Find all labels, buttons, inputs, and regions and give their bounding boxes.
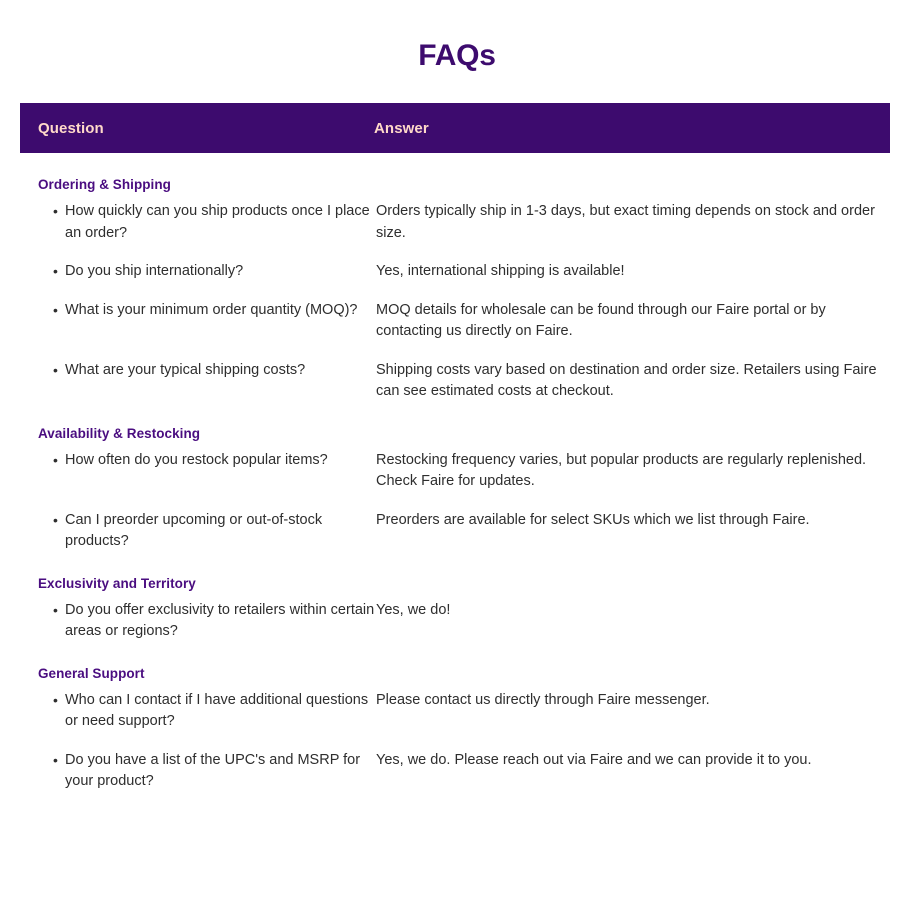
faq-row: Do you have a list of the UPC's and MSRP… (20, 750, 890, 793)
faq-question-text: Who can I contact if I have additional q… (53, 690, 375, 733)
faq-question-cell: Do you offer exclusivity to retailers wi… (20, 600, 375, 643)
page-title: FAQs (0, 0, 914, 74)
faq-question-text: Can I preorder upcoming or out-of-stock … (53, 510, 375, 553)
faq-answer-text: Shipping costs vary based on destination… (375, 360, 890, 403)
column-header-answer: Answer (374, 120, 429, 137)
faq-question-cell: What are your typical shipping costs? (20, 360, 375, 382)
faq-row: Do you ship internationally?Yes, interna… (20, 261, 890, 283)
faq-row: How quickly can you ship products once I… (20, 201, 890, 244)
faq-question-cell: Can I preorder upcoming or out-of-stock … (20, 510, 375, 553)
faq-question-text: Do you have a list of the UPC's and MSRP… (53, 750, 375, 793)
faq-row: How often do you restock popular items?R… (20, 450, 890, 493)
faq-section: Availability & RestockingHow often do yo… (20, 425, 890, 553)
faq-answer-text: Orders typically ship in 1-3 days, but e… (375, 201, 890, 244)
faq-page: FAQs Question Answer Ordering & Shipping… (0, 0, 914, 914)
faq-answer-text: Please contact us directly through Faire… (375, 690, 890, 712)
faq-section-title: Exclusivity and Territory (38, 575, 890, 593)
faq-question-cell: How often do you restock popular items? (20, 450, 375, 472)
faq-row: Who can I contact if I have additional q… (20, 690, 890, 733)
faq-question-text: What are your typical shipping costs? (53, 360, 375, 382)
faq-section-title: Availability & Restocking (38, 425, 890, 443)
faq-answer-text: MOQ details for wholesale can be found t… (375, 300, 890, 343)
faq-section: General SupportWho can I contact if I ha… (20, 665, 890, 793)
faq-row: Do you offer exclusivity to retailers wi… (20, 600, 890, 643)
faq-table-body: Ordering & ShippingHow quickly can you s… (0, 176, 914, 793)
faq-question-cell: How quickly can you ship products once I… (20, 201, 375, 244)
faq-question-text: How often do you restock popular items? (53, 450, 375, 472)
faq-question-text: What is your minimum order quantity (MOQ… (53, 300, 375, 322)
column-header-question: Question (38, 120, 374, 137)
faq-section: Exclusivity and TerritoryDo you offer ex… (20, 575, 890, 643)
faq-section-title: Ordering & Shipping (38, 176, 890, 194)
faq-section-title: General Support (38, 665, 890, 683)
faq-row: What are your typical shipping costs?Shi… (20, 360, 890, 403)
faq-question-cell: What is your minimum order quantity (MOQ… (20, 300, 375, 322)
faq-question-cell: Do you have a list of the UPC's and MSRP… (20, 750, 375, 793)
faq-answer-text: Yes, we do. Please reach out via Faire a… (375, 750, 890, 772)
faq-answer-text: Preorders are available for select SKUs … (375, 510, 890, 532)
faq-answer-text: Yes, international shipping is available… (375, 261, 890, 283)
faq-question-cell: Who can I contact if I have additional q… (20, 690, 375, 733)
faq-row: What is your minimum order quantity (MOQ… (20, 300, 890, 343)
faq-answer-text: Yes, we do! (375, 600, 890, 622)
faq-row: Can I preorder upcoming or out-of-stock … (20, 510, 890, 553)
faq-table-header: Question Answer (20, 103, 890, 153)
faq-section: Ordering & ShippingHow quickly can you s… (20, 176, 890, 403)
faq-question-cell: Do you ship internationally? (20, 261, 375, 283)
faq-question-text: Do you ship internationally? (53, 261, 375, 283)
faq-question-text: Do you offer exclusivity to retailers wi… (53, 600, 375, 643)
faq-question-text: How quickly can you ship products once I… (53, 201, 375, 244)
faq-answer-text: Restocking frequency varies, but popular… (375, 450, 890, 493)
